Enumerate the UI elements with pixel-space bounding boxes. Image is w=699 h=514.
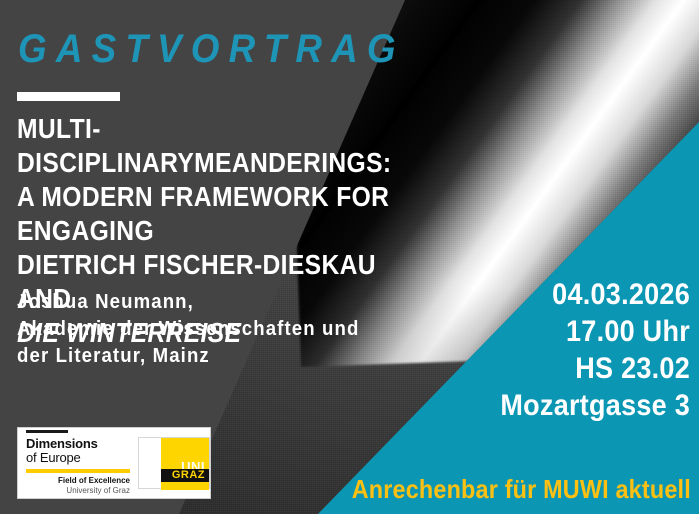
logo-dimensions-text: Dimensions: [26, 437, 130, 451]
logo-yellow-rule: [26, 469, 130, 473]
event-room: HS 23.02: [411, 350, 690, 387]
speaker-affiliation-line-1: Akademie der Wissenschaften und: [17, 316, 408, 343]
poster-canvas: GASTVORTRAG MULTI-DISCIPLINARYMEANDERING…: [0, 0, 699, 514]
title-line-1: MULTI-DISCIPLINARYMEANDERINGS:: [17, 112, 431, 180]
kicker-label: GASTVORTRAG: [18, 29, 405, 69]
logo-top-rule: [26, 430, 68, 433]
uni-graz-logo: UNI GRAZ: [138, 437, 210, 489]
speaker-name: Joshua Neumann,: [17, 289, 408, 316]
logo-bar: Dimensions of Europe Field of Excellence…: [17, 427, 211, 499]
event-time: 17.00 Uhr: [411, 313, 690, 350]
title-line-2: A MODERN FRAMEWORK FOR ENGAGING: [17, 180, 431, 248]
event-date: 04.03.2026: [411, 276, 690, 313]
logo-of-europe-text: of Europe: [26, 451, 130, 466]
white-divider-bar: [17, 92, 120, 101]
event-details: 04.03.2026 17.00 Uhr HS 23.02 Mozartgass…: [380, 276, 690, 424]
speaker-block: Joshua Neumann, Akademie der Wissenschaf…: [17, 289, 408, 370]
logo-university-text: University of Graz: [26, 486, 130, 496]
event-address: Mozartgasse 3: [411, 387, 690, 424]
dimensions-of-europe-logo: Dimensions of Europe Field of Excellence…: [26, 430, 130, 496]
speaker-affiliation-line-2: der Literatur, Mainz: [17, 343, 408, 370]
uni-graz-graz-text: GRAZ: [172, 470, 205, 481]
logo-field-of-excellence-text: Field of Excellence: [26, 476, 130, 486]
credit-note: Anrechenbar für MUWI aktuell: [352, 476, 691, 502]
